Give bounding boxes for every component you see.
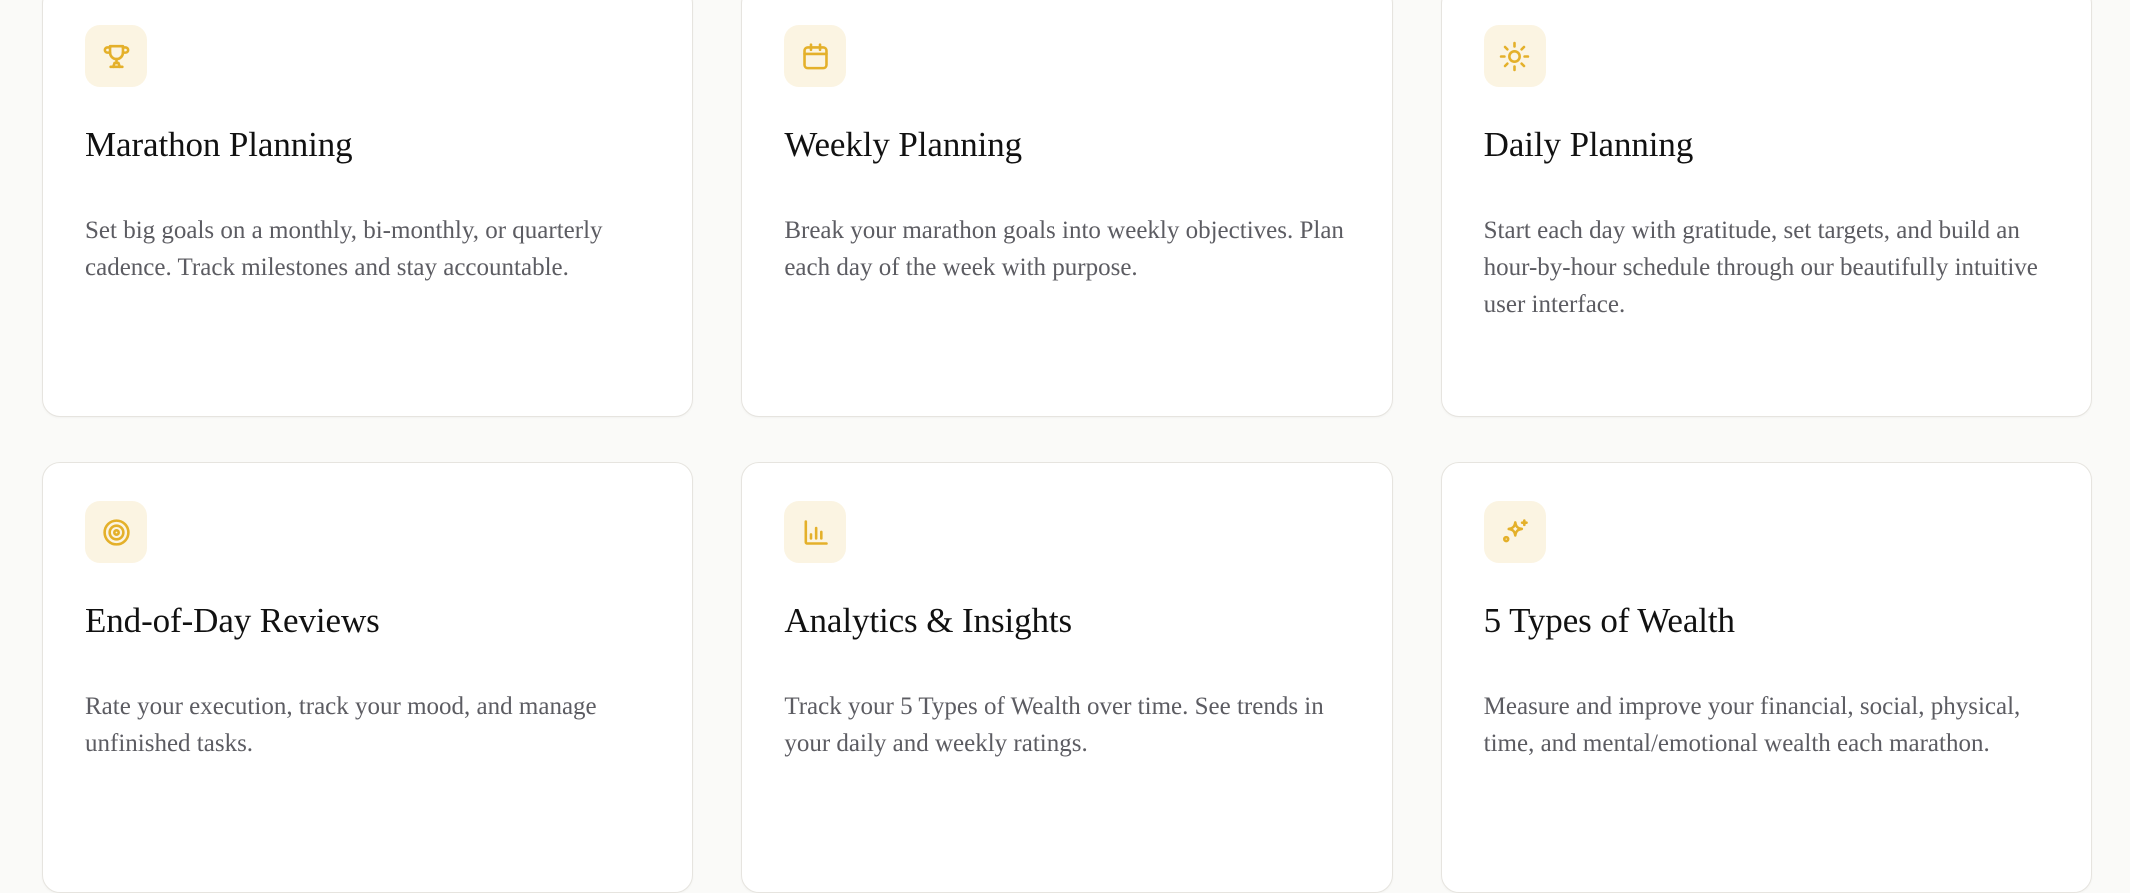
- bar-chart-icon: [800, 517, 831, 548]
- calendar-icon-tile: [784, 25, 846, 87]
- feature-card-title: Marathon Planning: [85, 125, 650, 165]
- sun-icon: [1499, 41, 1530, 72]
- feature-card-description: Set big goals on a monthly, bi-monthly, …: [85, 212, 650, 286]
- feature-card-title: Analytics & Insights: [784, 601, 1349, 641]
- trophy-icon: [101, 41, 132, 72]
- calendar-icon: [800, 41, 831, 72]
- feature-card-description: Measure and improve your financial, soci…: [1484, 688, 2049, 762]
- feature-card-analytics-insights[interactable]: Analytics & Insights Track your 5 Types …: [741, 462, 1392, 893]
- feature-card-end-of-day-reviews[interactable]: End-of-Day Reviews Rate your execution, …: [42, 462, 693, 893]
- feature-card-title: End-of-Day Reviews: [85, 601, 650, 641]
- feature-card-title: 5 Types of Wealth: [1484, 601, 2049, 641]
- bar-chart-icon-tile: [784, 501, 846, 563]
- feature-card-description: Track your 5 Types of Wealth over time. …: [784, 688, 1349, 762]
- feature-card-description: Break your marathon goals into weekly ob…: [784, 212, 1349, 286]
- feature-card-description: Rate your execution, track your mood, an…: [85, 688, 650, 762]
- feature-card-title: Weekly Planning: [784, 125, 1349, 165]
- target-icon: [101, 517, 132, 548]
- feature-card-five-types-of-wealth[interactable]: 5 Types of Wealth Measure and improve yo…: [1441, 462, 2092, 893]
- sun-icon-tile: [1484, 25, 1546, 87]
- feature-card-title: Daily Planning: [1484, 125, 2049, 165]
- sparkle-plus-icon: [1499, 517, 1530, 548]
- feature-cards-grid: Marathon Planning Set big goals on a mon…: [42, 0, 2092, 893]
- sparkle-plus-icon-tile: [1484, 501, 1546, 563]
- feature-card-weekly-planning[interactable]: Weekly Planning Break your marathon goal…: [741, 0, 1392, 417]
- trophy-icon-tile: [85, 25, 147, 87]
- feature-card-daily-planning[interactable]: Daily Planning Start each day with grati…: [1441, 0, 2092, 417]
- feature-card-marathon-planning[interactable]: Marathon Planning Set big goals on a mon…: [42, 0, 693, 417]
- target-icon-tile: [85, 501, 147, 563]
- feature-card-description: Start each day with gratitude, set targe…: [1484, 212, 2049, 323]
